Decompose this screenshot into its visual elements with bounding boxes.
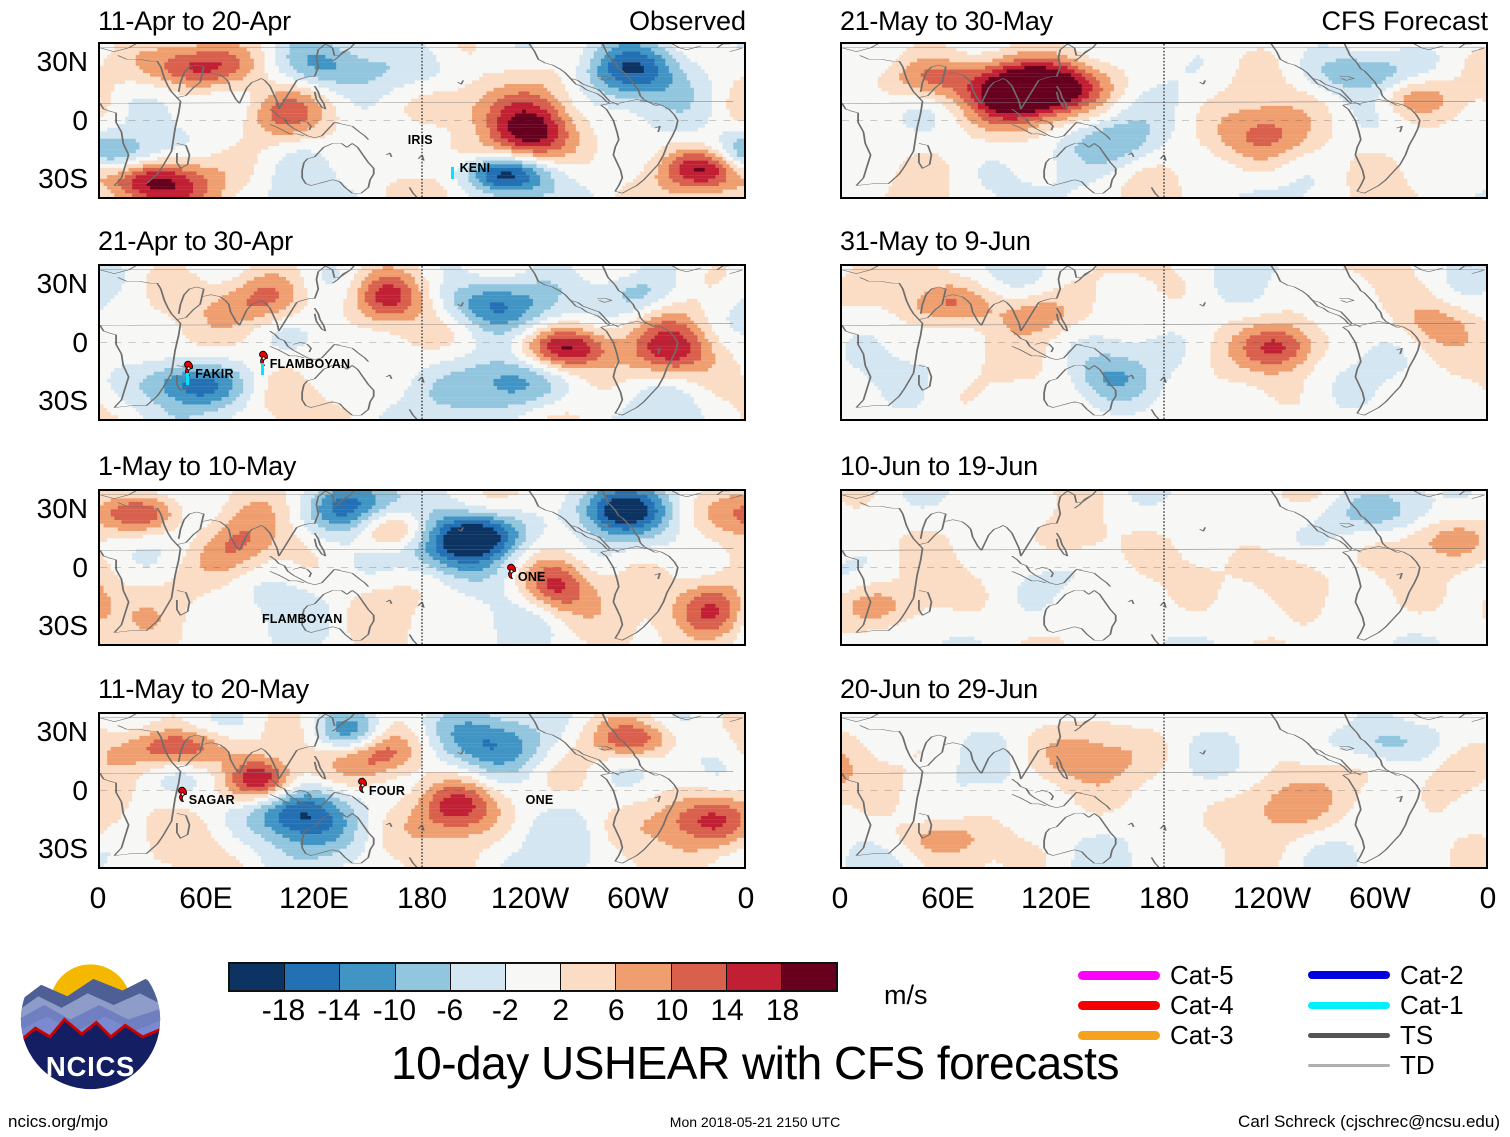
footer-timestamp: Mon 2018-05-21 2150 UTC xyxy=(670,1113,840,1131)
storm-track-segment xyxy=(261,363,264,375)
legend-color-line xyxy=(1308,1002,1390,1009)
y-axis-label: 30S xyxy=(0,835,88,863)
y-axis-label: 0 xyxy=(0,554,88,582)
colorbar-tick-label: -6 xyxy=(436,996,463,1026)
legend-label: TS xyxy=(1400,1022,1433,1048)
colorbar-swatch xyxy=(727,964,782,990)
storm-symbol-icon xyxy=(176,786,189,803)
legend-color-line xyxy=(1078,1001,1160,1010)
legend-color-line xyxy=(1308,1064,1390,1067)
x-axis-label: 0 xyxy=(738,884,755,914)
legend-item: Cat-2 xyxy=(1308,960,1464,990)
y-axis-label: 0 xyxy=(0,777,88,805)
panel-title: 20-Jun to 29-Jun xyxy=(840,676,1038,703)
storm-label: FAKIR xyxy=(195,368,234,380)
y-axis-label: 30S xyxy=(0,612,88,640)
storm-track-segment xyxy=(186,373,189,385)
legend-label: Cat-1 xyxy=(1400,992,1464,1018)
storm-label: FLAMBOYAN xyxy=(262,613,343,625)
legend-label: Cat-4 xyxy=(1170,992,1234,1018)
legend-label: Cat-3 xyxy=(1170,1022,1234,1048)
x-axis-label: 180 xyxy=(397,884,447,914)
legend-color-line xyxy=(1078,971,1160,980)
map-plot-area xyxy=(840,489,1488,646)
y-axis-label: 30N xyxy=(0,718,88,746)
main-title: 10-day USHEAR with CFS forecasts xyxy=(391,1040,1119,1086)
colorbar-swatch xyxy=(340,964,395,990)
colorbar-swatch xyxy=(672,964,727,990)
x-axis-label: 0 xyxy=(90,884,107,914)
map-plot-area xyxy=(840,264,1488,421)
colorbar-tick-label: -2 xyxy=(492,996,519,1026)
x-axis-label: 60W xyxy=(607,884,669,914)
storm-label: ONE xyxy=(526,794,554,806)
shear-anomaly-field xyxy=(100,714,744,867)
legend-color-line xyxy=(1308,971,1390,979)
shear-anomaly-field xyxy=(100,491,744,644)
panel-title: 21-Apr to 30-Apr xyxy=(98,228,293,255)
legend-item: TS xyxy=(1308,1020,1464,1050)
panel-column-header: CFS Forecast xyxy=(1321,8,1488,35)
panel-title: 10-Jun to 19-Jun xyxy=(840,453,1038,480)
y-axis-label: 30N xyxy=(0,48,88,76)
y-axis-label: 30S xyxy=(0,387,88,415)
storm-label: IRIS xyxy=(408,134,433,146)
legend-item: TD xyxy=(1308,1050,1464,1080)
legend-item: Cat-4 xyxy=(1078,990,1234,1020)
map-plot-area xyxy=(98,264,746,421)
colorbar-swatch xyxy=(396,964,451,990)
map-plot-area xyxy=(840,42,1488,199)
ncics-logo: NCICS xyxy=(18,947,163,1092)
storm-symbol-icon xyxy=(505,563,518,580)
colorbar-tick-label: 14 xyxy=(710,996,743,1026)
colorbar-swatch xyxy=(782,964,836,990)
colorbar-unit-label: m/s xyxy=(884,982,928,1009)
colorbar-tick-label: -10 xyxy=(373,996,416,1026)
panel-column-header: Observed xyxy=(629,8,746,35)
colorbar-tick-labels: -18-14-10-6-226101418 xyxy=(228,996,838,1030)
storm-label: FLAMBOYAN xyxy=(270,358,351,370)
storm-label: SAGAR xyxy=(189,794,235,806)
panel-title: 21-May to 30-May xyxy=(840,8,1053,35)
x-axis-label: 60E xyxy=(179,884,232,914)
legend-item: Cat-5 xyxy=(1078,960,1234,990)
colorbar xyxy=(228,962,838,992)
colorbar-swatch xyxy=(230,964,285,990)
shear-anomaly-field xyxy=(100,266,744,419)
x-axis-label: 120E xyxy=(279,884,349,914)
legend-label: Cat-2 xyxy=(1400,962,1464,988)
x-axis-label: 0 xyxy=(1480,884,1497,914)
x-axis-label: 120W xyxy=(1233,884,1311,914)
y-axis-label: 30S xyxy=(0,165,88,193)
colorbar-tick-label: -18 xyxy=(262,996,305,1026)
shear-anomaly-field xyxy=(842,266,1486,419)
panel-title: 1-May to 10-May xyxy=(98,453,296,480)
y-axis-label: 30N xyxy=(0,270,88,298)
y-axis-label: 30N xyxy=(0,495,88,523)
colorbar-tick-label: 10 xyxy=(655,996,688,1026)
x-axis-label: 60E xyxy=(921,884,974,914)
x-axis-label: 180 xyxy=(1139,884,1189,914)
shear-anomaly-field xyxy=(842,714,1486,867)
shear-anomaly-field xyxy=(100,44,744,197)
panel-title: 11-May to 20-May xyxy=(98,676,309,703)
colorbar-tick-label: 6 xyxy=(608,996,625,1026)
panel-title: 31-May to 9-Jun xyxy=(840,228,1031,255)
colorbar-swatch xyxy=(451,964,506,990)
x-axis-label: 0 xyxy=(832,884,849,914)
x-axis-label: 120W xyxy=(491,884,569,914)
storm-label: KENI xyxy=(460,162,491,174)
colorbar-tick-label: 18 xyxy=(766,996,799,1026)
storm-label: ONE xyxy=(518,571,546,583)
colorbar-swatch xyxy=(506,964,561,990)
legend-item: Cat-1 xyxy=(1308,990,1464,1020)
x-axis-label: 60W xyxy=(1349,884,1411,914)
colorbar-swatch xyxy=(285,964,340,990)
colorbar-tick-label: -14 xyxy=(317,996,360,1026)
y-axis-label: 0 xyxy=(0,329,88,357)
map-plot-area xyxy=(840,712,1488,869)
legend-column-right: Cat-2Cat-1TSTD xyxy=(1308,960,1464,1080)
colorbar-tick-label: 2 xyxy=(552,996,569,1026)
colorbar-swatch xyxy=(616,964,671,990)
map-plot-area xyxy=(98,42,746,199)
footer-author: Carl Schreck (cjschrec@ncsu.edu) xyxy=(1238,1113,1500,1131)
legend-color-line xyxy=(1308,1033,1390,1038)
map-plot-area xyxy=(98,489,746,646)
panel-title: 11-Apr to 20-Apr xyxy=(98,8,291,35)
colorbar-swatch xyxy=(561,964,616,990)
storm-category-legend: Cat-5Cat-4Cat-3 Cat-2Cat-1TSTD xyxy=(1078,960,1498,1078)
legend-label: Cat-5 xyxy=(1170,962,1234,988)
x-axis-label: 120E xyxy=(1021,884,1091,914)
legend-label: TD xyxy=(1400,1052,1435,1078)
footer-website[interactable]: ncics.org/mjo xyxy=(8,1113,108,1131)
storm-track-segment xyxy=(451,167,454,179)
y-axis-label: 0 xyxy=(0,107,88,135)
storm-label: FOUR xyxy=(369,785,405,797)
storm-symbol-icon xyxy=(356,777,369,794)
shear-anomaly-field xyxy=(842,491,1486,644)
shear-anomaly-field xyxy=(842,44,1486,197)
map-plot-area xyxy=(98,712,746,869)
